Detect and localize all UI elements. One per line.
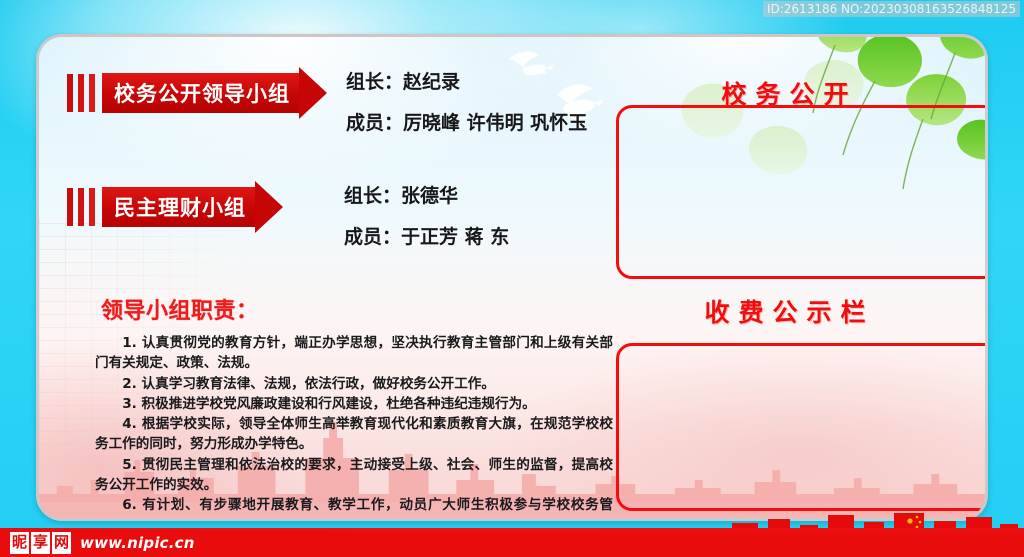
duty-item: 1. 认真贯彻党的教育方针，端正办学思想，坚决执行教育主管部门和上级有关部门有关… [95,333,613,374]
logo-char-2: 享 [31,532,50,554]
leadership-member-line: 成员：厉晓峰 许伟明 巩怀玉 [346,114,587,133]
duty-item: 2. 认真学习教育法律、法规，依法行政，做好校务公开工作。 [95,374,613,394]
group-row-finance: 民主理财小组 组长：张德华 成员：于正芳 蒋 东 [67,187,509,247]
poster-canvas: 校务公开领导小组 组长：赵纪录 成员：厉晓峰 许伟明 巩怀玉 民主理财小组 组长… [0,0,1024,557]
group-row-leadership: 校务公开领导小组 组长：赵纪录 成员：厉晓峰 许伟明 巩怀玉 [67,73,587,133]
finance-members: 组长：张德华 成员：于正芳 蒋 东 [344,187,509,247]
red-bars-icon-2 [67,187,95,226]
watermark-url: www.nipic.cn [80,534,195,552]
red-bars-icon [67,73,95,112]
leadership-members: 组长：赵纪录 成员：厉晓峰 许伟明 巩怀玉 [346,73,587,133]
notice-box-school-affairs-content [619,108,988,124]
nipic-logo-icon: 昵 享 网 [10,532,71,554]
duty-item: 5. 贯彻民主管理和依法治校的要求，主动接受上级、社会、师生的监督，提高校务公开… [95,455,613,496]
main-board: 校务公开领导小组 组长：赵纪录 成员：厉晓峰 许伟明 巩怀玉 民主理财小组 组长… [36,34,988,521]
duty-item: 4. 根据学校实际，领导全体师生高举教育现代化和素质教育大旗，在规范学校校务工作… [95,414,613,455]
watermark-brand: 昵 享 网 www.nipic.cn [10,528,195,557]
left-content-column: 校务公开领导小组 组长：赵纪录 成员：厉晓峰 许伟明 巩怀玉 民主理财小组 组长… [39,37,614,521]
banner-finance-group[interactable]: 民主理财小组 [102,187,256,227]
finance-member-line: 成员：于正芳 蒋 东 [344,228,509,247]
banner-leadership-group[interactable]: 校务公开领导小组 [102,73,300,113]
duty-section-body: 1. 认真贯彻党的教育方针，端正办学思想，坚决执行教育主管部门和上级有关部门有关… [95,333,613,521]
right-content-column: 校务公开 收费公示栏 [579,37,988,521]
watermark-id-text: ID:2613186 NO:20230308163526848125 [763,1,1020,17]
logo-char-3: 网 [52,532,71,554]
finance-leader-line: 组长：张德华 [344,187,509,206]
notice-box-fee-disclosure-content [619,346,988,362]
notice-box-school-affairs[interactable] [616,105,988,279]
watermark-bar: 昵 享 网 www.nipic.cn [0,528,1024,557]
arrow-head-icon-2 [255,181,283,233]
leadership-leader-line: 组长：赵纪录 [346,73,587,92]
logo-char-1: 昵 [10,532,29,554]
duty-item: 6. 有计划、有步骤地开展教育、教学工作，动员广大师生积极参与学校校务管理，不断… [95,495,613,521]
banner-finance-label: 民主理财小组 [114,192,246,222]
duty-section-title: 领导小组职责： [101,293,259,325]
panel-title-fee-disclosure: 收费公示栏 [579,293,988,329]
duty-item: 3. 积极推进学校党风廉政建设和行风建设，杜绝各种违纪违规行为。 [95,394,613,414]
notice-box-fee-disclosure[interactable] [616,343,988,511]
arrow-head-icon [299,67,327,119]
banner-leadership-label: 校务公开领导小组 [114,78,290,108]
